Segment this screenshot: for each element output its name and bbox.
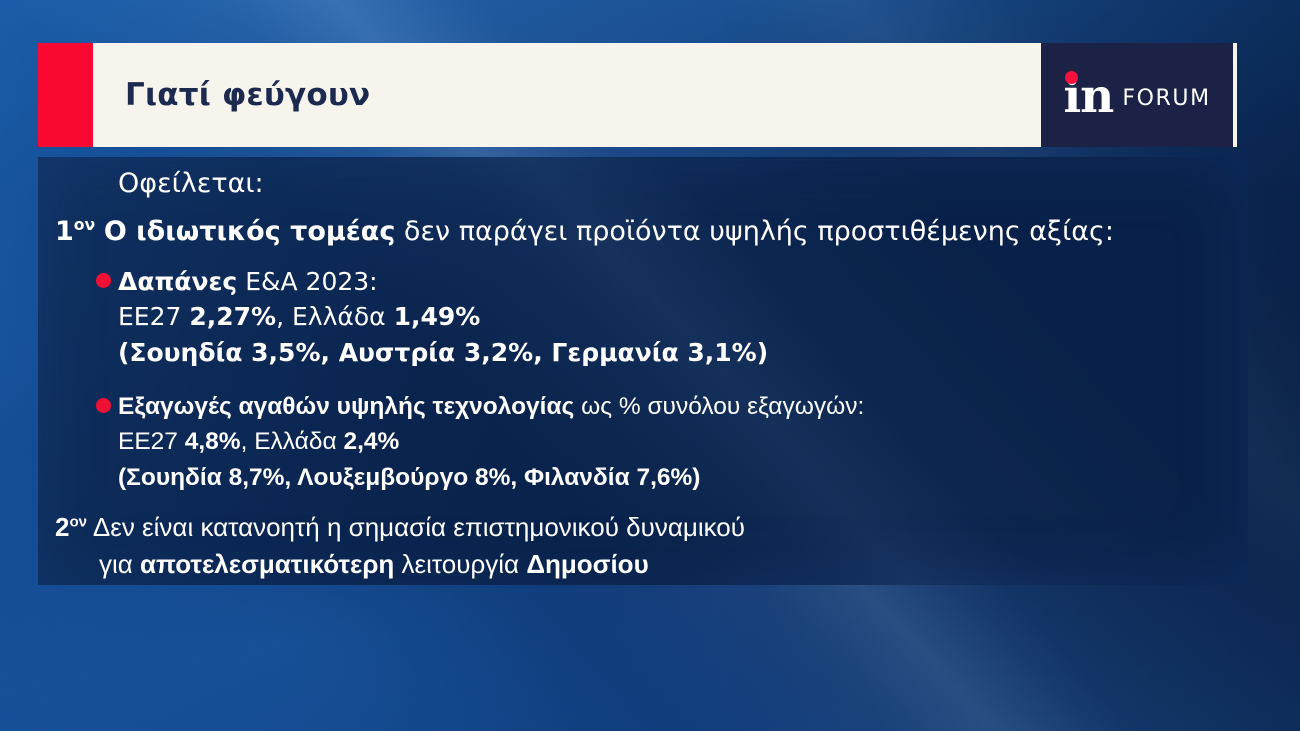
bullet-stat-line: ΕΕ27 2,27%, Ελλάδα 1,49% — [96, 299, 768, 334]
stat-plain-1: ΕΕ27 — [118, 428, 185, 455]
bullet-head-text: Δαπάνες Ε&Α 2023: — [118, 264, 378, 299]
point-2-marker-number: 2 — [55, 512, 69, 542]
point-1-marker-suffix: ον — [74, 215, 95, 234]
stat-bold-1: 2,27% — [189, 302, 276, 331]
bullet-head-rest: ως % συνόλου εξαγωγών: — [574, 393, 864, 420]
bullet-head-line: Εξαγωγές αγαθών υψηλής τεχνολογίας ως % … — [96, 389, 864, 424]
point-2-line-2-pre: για — [99, 549, 140, 579]
bullet-countries-line: (Σουηδία 3,5%, Αυστρία 3,2%, Γερμανία 3,… — [96, 335, 768, 370]
bullet-head-text: Εξαγωγές αγαθών υψηλής τεχνολογίας ως % … — [118, 389, 864, 424]
page-title: Γιατί φεύγουν — [125, 77, 370, 113]
stat-plain-1: ΕΕ27 — [118, 302, 189, 331]
point-2-marker-suffix: ον — [69, 513, 87, 530]
point-2-line-1: Δεν είναι κατανοητή η σημασία επιστημονι… — [87, 512, 745, 542]
stat-plain-2: , Ελλάδα — [241, 428, 344, 455]
lead-text: Οφείλεται: — [118, 168, 264, 199]
logo-in-mark: in — [1063, 70, 1113, 120]
bullet-dot-icon — [96, 398, 111, 413]
content-panel: Οφείλεται: 1ον Ο ιδιωτικός τομέας δεν πα… — [38, 157, 1248, 585]
point-1-bold-part: Ο ιδιωτικός τομέας — [104, 216, 396, 247]
stat-bold-2: 2,4% — [343, 428, 399, 455]
stat-plain-2: , Ελλάδα — [276, 302, 393, 331]
logo-forum-text: FORUM — [1122, 79, 1210, 111]
stat-bold-2: 1,49% — [394, 302, 481, 331]
point-2-bold-2: Δημοσίου — [526, 549, 648, 579]
point-2-line-2: για αποτελεσματικότερη λειτουργία Δημοσί… — [55, 546, 745, 583]
point-2: 2ον Δεν είναι κατανοητή η σημασία επιστη… — [55, 509, 745, 583]
point-1-marker-number: 1 — [55, 216, 74, 247]
point-2-bold-1: αποτελεσματικότερη — [140, 549, 394, 579]
stat-bold-1: 4,8% — [185, 428, 241, 455]
presentation-slide: Γιατί φεύγουν in FORUM Οφείλεται: 1ον Ο … — [0, 0, 1300, 731]
bullet-head-bold: Δαπάνες — [118, 267, 237, 296]
title-bar-body: Γιατί φεύγουν in FORUM — [93, 43, 1237, 147]
slide-title-bar: Γιατί φεύγουν in FORUM — [38, 43, 1237, 147]
bullet-block-research-spending: Δαπάνες Ε&Α 2023: ΕΕ27 2,27%, Ελλάδα 1,4… — [96, 264, 768, 370]
bullet-head-rest: Ε&Α 2023: — [237, 267, 377, 296]
bullet-block-hightech-exports: Εξαγωγές αγαθών υψηλής τεχνολογίας ως % … — [96, 389, 864, 495]
point-1: 1ον Ο ιδιωτικός τομέας δεν παράγει προϊό… — [55, 216, 1114, 247]
point-2-mid: λειτουργία — [394, 549, 526, 579]
in-forum-logo: in FORUM — [1041, 43, 1233, 147]
title-accent-bar — [38, 43, 93, 147]
bullet-head-line: Δαπάνες Ε&Α 2023: — [96, 264, 768, 299]
bullet-countries-line: (Σουηδία 8,7%, Λουξεμβούργο 8%, Φιλανδία… — [96, 460, 864, 495]
bullet-head-bold: Εξαγωγές αγαθών υψηλής τεχνολογίας — [118, 393, 574, 420]
point-1-rest: δεν παράγει προϊόντα υψηλής προστιθέμενη… — [395, 216, 1114, 247]
bullet-dot-icon — [96, 273, 111, 288]
bullet-stat-line: ΕΕ27 4,8%, Ελλάδα 2,4% — [96, 424, 864, 459]
